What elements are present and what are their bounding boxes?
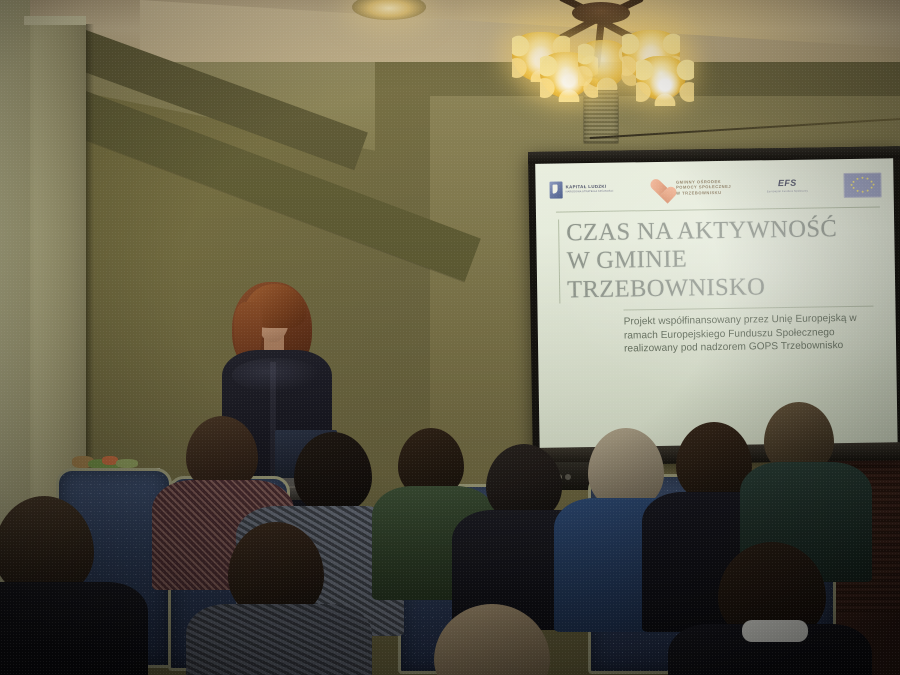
slide-title-block: CZAS NA AKTYWNOŚĆ W GMINIE TRZEBOWNISKO: [558, 214, 883, 304]
audience-head: [294, 432, 372, 514]
efs-title: EFS: [778, 178, 797, 187]
eu-flag-star: [867, 178, 869, 180]
eu-flag-stars: [844, 173, 880, 197]
kapital-ludzki-text: KAPITAŁ LUDZKI NARODOWA STRATEGIA SPÓJNO…: [566, 185, 614, 194]
european-union-flag-icon: [843, 172, 881, 198]
eu-flag-star: [871, 187, 873, 189]
chandelier-bulb-core: [636, 56, 694, 106]
slide-logo-row: KAPITAŁ LUDZKI NARODOWA STRATEGIA SPÓJNO…: [549, 169, 881, 204]
eu-flag-star: [856, 178, 858, 180]
slide-divider-top: [556, 206, 880, 212]
eu-flag-star: [867, 190, 869, 192]
audience-body: [0, 582, 148, 675]
eu-flag-star: [856, 190, 858, 192]
eu-flag-star: [871, 180, 873, 182]
eu-flag-star: [851, 184, 853, 186]
column-capital: [24, 16, 86, 25]
efs-subtitle: Europejski Fundusz Społeczny: [767, 190, 808, 193]
kapital-ludzki-mark-icon: [549, 181, 562, 198]
slide-body-text: Projekt współfinansowany przez Unię Euro…: [624, 312, 873, 356]
slide-title-accent-bar: [558, 220, 560, 304]
chandelier-ceiling-plate: [572, 2, 630, 24]
audience-collar: [742, 620, 808, 642]
slide-title: CZAS NA AKTYWNOŚĆ W GMINIE TRZEBOWNISKO: [566, 214, 883, 304]
gops-text: GMINNY OŚRODEK POMOCY SPOŁECZNEJ W TRZEB…: [676, 179, 731, 196]
kapital-ludzki-logo: KAPITAŁ LUDZKI NARODOWA STRATEGIA SPÓJNO…: [549, 180, 613, 198]
audience-body: [186, 604, 372, 675]
ceiling-chandelier: [496, 0, 706, 114]
slide-divider-middle: [623, 306, 873, 311]
efs-logo: EFS Europejski Fundusz Społeczny: [767, 178, 808, 193]
gops-trzebownisko-logo: GMINNY OŚRODEK POMOCY SPOŁECZNEJ W TRZEB…: [649, 176, 731, 198]
eu-flag-star: [852, 180, 854, 182]
eu-flag-star: [872, 184, 874, 186]
eu-flag-star: [852, 187, 854, 189]
conference-presentation-photo: KAPITAŁ LUDZKI NARODOWA STRATEGIA SPÓJNO…: [0, 0, 900, 675]
chandelier-shade: [636, 56, 686, 100]
audience-seating: [0, 400, 900, 675]
gops-line-3: W TRZEBOWNISKU: [676, 189, 731, 195]
heart-icon: [649, 177, 671, 198]
kapital-ludzki-subtitle: NARODOWA STRATEGIA SPÓJNOŚCI: [566, 190, 614, 193]
chandelier-shade: [578, 40, 628, 88]
eu-flag-star: [862, 191, 864, 193]
presenter-shoulder-highlight: [232, 358, 320, 392]
eu-flag-star: [861, 177, 863, 179]
